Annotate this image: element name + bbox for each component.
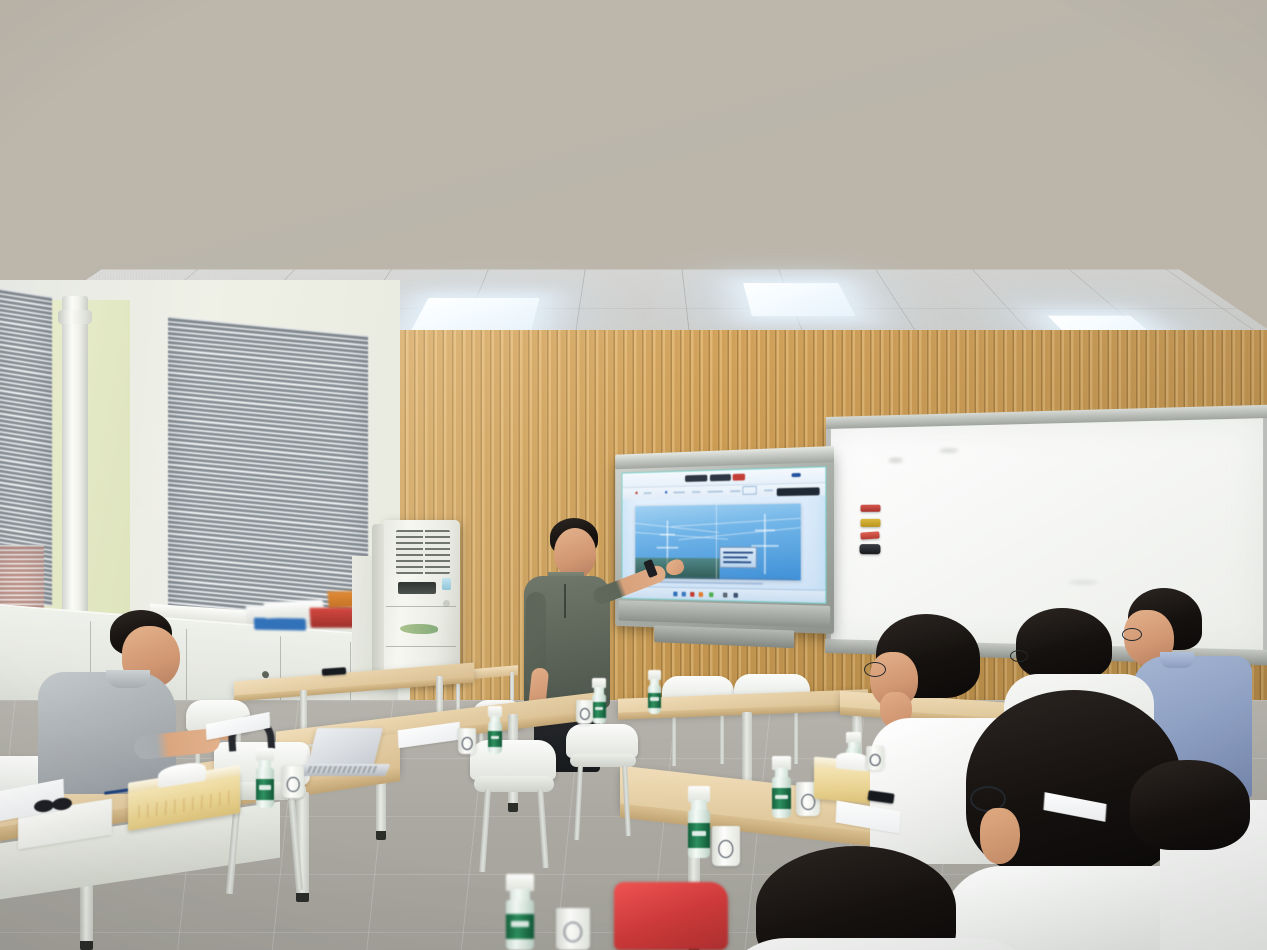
attendee-grey-polo-shirt xyxy=(38,672,176,794)
paper-cup[interactable] xyxy=(866,746,884,770)
ceiling-panel-light xyxy=(743,283,856,316)
ac-display-panel[interactable] xyxy=(398,582,436,594)
ribbon-dot xyxy=(635,492,637,495)
marker-smudge xyxy=(939,448,958,452)
attendee-collar xyxy=(106,670,150,688)
taskbar-icon[interactable] xyxy=(734,593,738,598)
presenter-right-arm-pointing xyxy=(591,563,668,606)
attendee-white-shirt-torso xyxy=(716,938,1046,950)
presenter-head xyxy=(554,528,596,578)
taskbar-icon[interactable] xyxy=(723,593,727,598)
ribbon-tick xyxy=(730,490,741,492)
red-jacket[interactable] xyxy=(614,882,728,950)
water-bottle[interactable] xyxy=(256,748,274,808)
glasses xyxy=(864,662,886,677)
taskbar-icon[interactable] xyxy=(709,592,713,597)
black-eraser[interactable] xyxy=(860,544,881,554)
water-bottle[interactable] xyxy=(506,874,534,950)
paper-cup[interactable] xyxy=(458,728,476,754)
water-bottle[interactable] xyxy=(592,678,606,724)
glasses xyxy=(1010,650,1028,662)
water-bottle[interactable] xyxy=(688,786,710,858)
paper-cup[interactable] xyxy=(556,908,590,950)
slide-warning-sign xyxy=(719,547,756,568)
ribbon-tick xyxy=(673,491,685,493)
attendee-hair xyxy=(1016,608,1112,680)
attendee-hair xyxy=(756,846,956,950)
menu-badge[interactable] xyxy=(685,474,707,481)
ac-brand-logo xyxy=(400,624,438,634)
attendee-hair xyxy=(1130,760,1250,850)
toolbar-accent xyxy=(791,473,800,477)
water-bottle[interactable] xyxy=(488,706,502,754)
presenter-shirt-placket xyxy=(564,584,566,618)
water-bottle[interactable] xyxy=(648,670,661,714)
paper-cup[interactable] xyxy=(282,766,304,798)
red-magnet[interactable] xyxy=(861,505,881,512)
laptop-screen xyxy=(307,728,383,768)
tissue-box-pattern xyxy=(138,791,230,820)
tool-badge[interactable] xyxy=(710,474,731,481)
red-magnet-2[interactable] xyxy=(860,531,879,539)
water-bottle[interactable] xyxy=(772,756,791,818)
marker-smudge xyxy=(1069,579,1098,585)
laptop-keys xyxy=(307,766,378,773)
marker-smudge xyxy=(889,458,903,463)
window-blinds xyxy=(168,316,368,635)
sunglasses[interactable] xyxy=(34,798,82,814)
slide-split xyxy=(716,505,717,579)
meeting-room-photo xyxy=(0,0,1267,950)
corner-overlay-badge[interactable] xyxy=(777,487,820,496)
cabinet-handle xyxy=(262,671,269,679)
ribbon-dot xyxy=(665,491,668,494)
ribbon-tick xyxy=(692,491,701,493)
floor-standing-air-conditioner[interactable] xyxy=(382,520,460,684)
ac-indicator-led xyxy=(442,578,451,590)
yellow-magnet[interactable] xyxy=(861,519,881,527)
ac-side-panel xyxy=(372,524,384,682)
attendee-bottom-edge xyxy=(736,846,1036,950)
paper-cup[interactable] xyxy=(576,700,593,724)
attendee-foreground-right xyxy=(1160,760,1267,950)
ac-air-outlet-grille xyxy=(396,530,450,574)
ribbon-tick xyxy=(643,492,651,494)
ribbon-tick xyxy=(764,489,773,491)
ribbon-button[interactable] xyxy=(742,486,756,495)
record-badge[interactable] xyxy=(733,473,745,480)
presenter-pointing-hand xyxy=(664,558,686,578)
ribbon-tick xyxy=(707,491,723,493)
